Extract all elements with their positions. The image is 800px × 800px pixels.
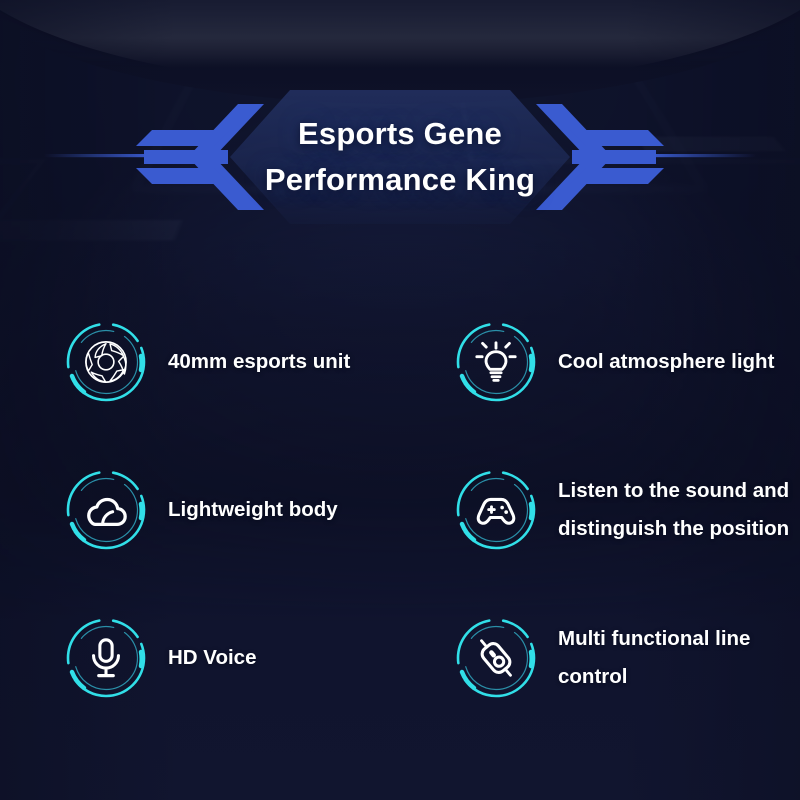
feature-label: Multi functional line control [558, 620, 800, 696]
hero-banner: Esports Gene Performance King [0, 72, 800, 242]
feature-label: 40mm esports unit [168, 343, 350, 381]
product-feature-poster: Esports Gene Performance King [0, 0, 800, 800]
feature-label: HD Voice [168, 639, 256, 677]
feature-item-hd-voice: HD Voice [62, 584, 452, 732]
hero-title: Esports Gene Performance King [0, 72, 800, 242]
tech-ring-frame [452, 614, 540, 702]
speaker-driver-icon [62, 318, 150, 406]
tech-ring-frame [62, 318, 150, 406]
light-bulb-icon [452, 318, 540, 406]
feature-item-driver-unit: 40mm esports unit [62, 288, 452, 436]
microphone-icon [62, 614, 150, 702]
feature-item-sound-positioning: Listen to the sound and distinguish the … [452, 436, 800, 584]
gamepad-icon [452, 466, 540, 554]
hero-title-line1: Esports Gene [298, 112, 502, 156]
tech-ring-frame [452, 466, 540, 554]
cloud-icon [62, 466, 150, 554]
feature-label: Cool atmosphere light [558, 343, 774, 381]
feature-label: Lightweight body [168, 491, 338, 529]
feature-item-atmosphere-light: Cool atmosphere light [452, 288, 800, 436]
feature-label: Listen to the sound and distinguish the … [558, 472, 800, 548]
hero-title-line2: Performance King [265, 158, 535, 202]
tech-ring-frame [62, 614, 150, 702]
tech-ring-frame [62, 466, 150, 554]
inline-remote-icon [452, 614, 540, 702]
tech-ring-frame [452, 318, 540, 406]
feature-grid: 40mm esports unit [0, 288, 800, 732]
feature-item-lightweight-body: Lightweight body [62, 436, 452, 584]
feature-item-line-control: Multi functional line control [452, 584, 800, 732]
